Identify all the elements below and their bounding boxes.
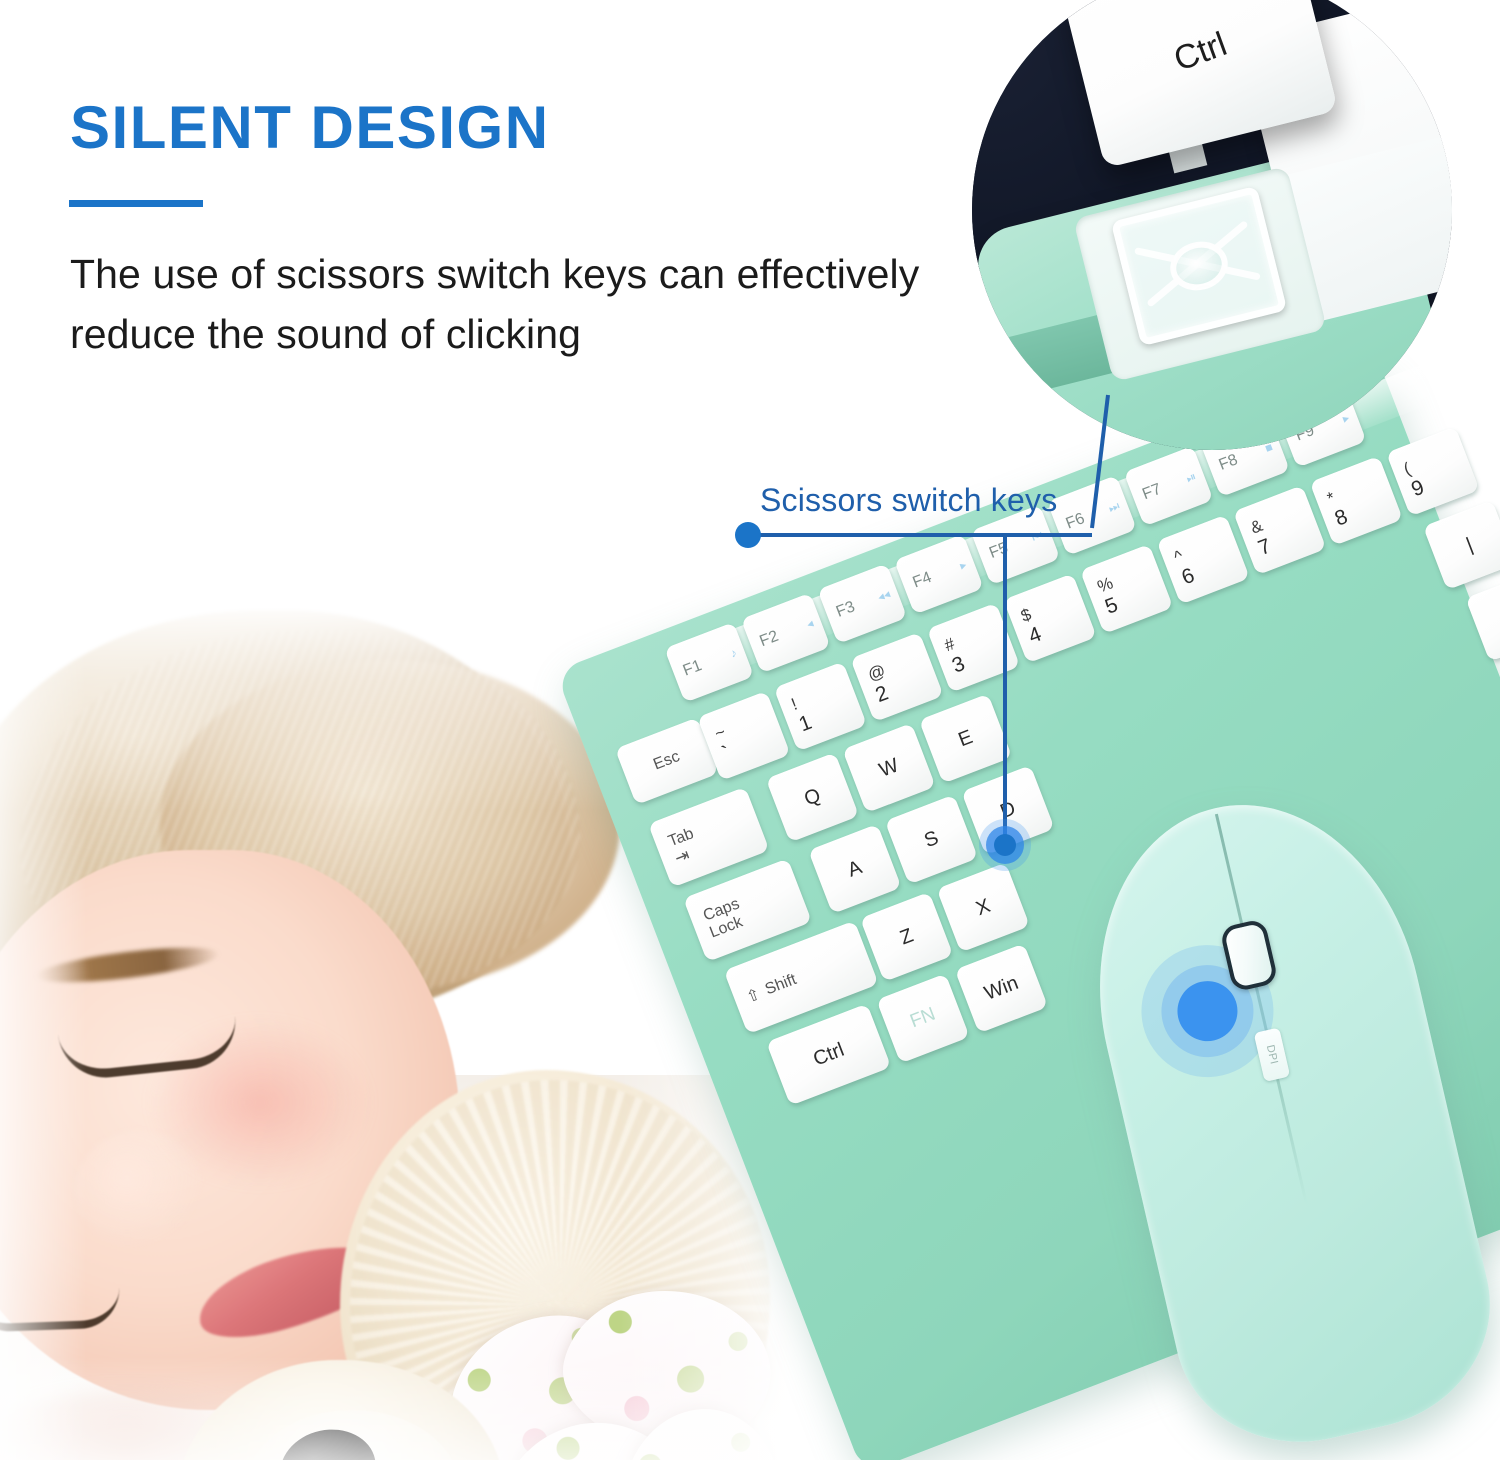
key-4[interactable]: $4 (1003, 573, 1096, 663)
mouse-dpi-label: DPI (1264, 1044, 1280, 1066)
key-z[interactable]: Z (860, 892, 953, 982)
key-label: 3 (949, 653, 968, 678)
key-5[interactable]: %5 (1080, 544, 1173, 634)
key-f2[interactable]: F2◂ (741, 593, 831, 674)
key-label: F4 (910, 569, 934, 592)
scissor-switch-macro-inset: Ctrl (972, 0, 1452, 450)
key-shift-label: * (1325, 489, 1338, 508)
key-6[interactable]: ^6 (1156, 515, 1249, 605)
key-label: 1 (796, 712, 815, 737)
key-3[interactable]: #3 (927, 603, 1020, 693)
key-label: 9 (1409, 476, 1428, 501)
key-s[interactable]: S (885, 795, 978, 885)
key-shift-label: ~ (712, 723, 728, 743)
media-glyph: ♪ (728, 646, 739, 661)
key-label: 4 (1026, 623, 1045, 648)
shift-arrow-icon: ⇧ (743, 984, 763, 1007)
key-pipe[interactable]: | (1423, 500, 1500, 590)
key-f6[interactable]: F6⏭ (1047, 475, 1137, 556)
callout-label: Scissors switch keys (760, 482, 1057, 519)
tab-arrow-icon: ⇥ (672, 846, 692, 869)
key-e[interactable]: E (919, 694, 1012, 784)
key-f3[interactable]: F3◂◂ (817, 563, 907, 644)
key-win[interactable]: Win (955, 943, 1048, 1033)
key-q[interactable]: Q (766, 752, 859, 842)
feature-description: The use of scissors switch keys can effe… (70, 245, 970, 365)
key-label: F8 (1217, 451, 1241, 474)
key-label: F3 (834, 598, 858, 621)
key-d[interactable]: D (961, 765, 1054, 855)
key-a[interactable]: A (808, 824, 901, 914)
key-shift-label: @ (866, 662, 889, 685)
inset-keycap-label: Ctrl (1168, 25, 1231, 80)
media-glyph: ◂ (805, 616, 816, 631)
key-7[interactable]: &7 (1233, 485, 1326, 575)
key-f7[interactable]: F7⏯ (1124, 446, 1214, 527)
title-accent-bar (69, 200, 203, 207)
key-shift-label: $ (1019, 606, 1034, 626)
key-label: 7 (1255, 535, 1274, 560)
key-fn[interactable]: FN (876, 973, 969, 1063)
key-label: F6 (1064, 510, 1088, 533)
media-glyph: ⏮ (1030, 528, 1045, 546)
key-shift-label: ( (1401, 460, 1413, 479)
key-label: 6 (1179, 565, 1198, 590)
key-w[interactable]: W (842, 723, 935, 813)
media-glyph: ◂◂ (876, 587, 892, 604)
key-label: F1 (681, 657, 705, 680)
key-label: F7 (1140, 481, 1164, 504)
key-label: F2 (757, 628, 781, 651)
media-glyph: ⏭ (1106, 498, 1121, 516)
key-x[interactable]: X (937, 863, 1030, 953)
key-label: 2 (873, 682, 892, 707)
key-f1[interactable]: F1♪ (664, 622, 754, 703)
product-feature-banner: SILENT DESIGN The use of scissors switch… (0, 0, 1500, 1460)
key-k[interactable]: K (1465, 572, 1500, 662)
key-label: ` (720, 743, 734, 766)
key-label: 8 (1332, 506, 1351, 531)
key-8[interactable]: *8 (1310, 456, 1403, 546)
key-shift-label: ! (789, 696, 800, 714)
key-f4[interactable]: F4▸ (894, 534, 984, 615)
key-2[interactable]: @2 (850, 632, 943, 722)
key-label: F5 (987, 539, 1011, 562)
page-title: SILENT DESIGN (70, 98, 550, 158)
media-glyph: ▸ (958, 557, 969, 572)
key-1[interactable]: !1 (774, 662, 867, 752)
key-shift-label: ^ (1172, 547, 1186, 567)
media-glyph: ⏯ (1184, 469, 1198, 486)
key-label: 5 (1102, 594, 1121, 619)
key-shift-label: # (942, 635, 957, 655)
child-nose (75, 1130, 205, 1250)
key-label: Shift (763, 971, 799, 999)
